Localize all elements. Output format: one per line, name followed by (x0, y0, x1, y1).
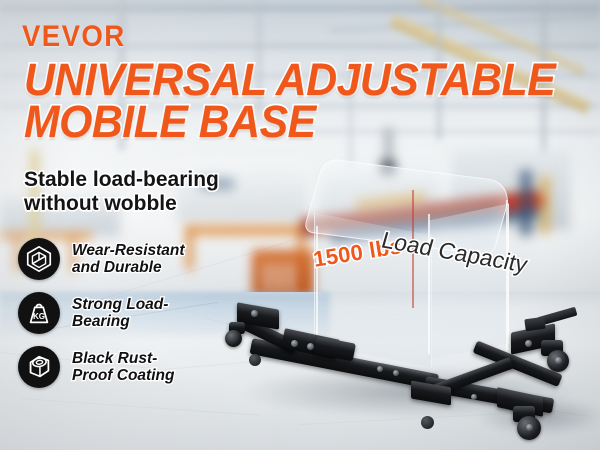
feature-label: Strong Load- Bearing (72, 296, 168, 330)
vevor-logo: VEVOR (22, 20, 126, 54)
feature-label: Wear-Resistant and Durable (72, 242, 185, 276)
hardware-bolt (251, 310, 258, 317)
feature-label-line-2: Proof Coating (72, 367, 174, 384)
product-banner: 1500 lbs Load Capacity (0, 0, 600, 450)
feature-label-line-1: Black Rust- (72, 350, 174, 367)
feature-label-line-1: Wear-Resistant (72, 242, 185, 259)
cube-icon (18, 238, 60, 280)
hardware-bolt (377, 366, 383, 372)
hardware-bolt (291, 340, 298, 347)
hardware-bolt (525, 340, 532, 347)
leveling-foot-left (249, 354, 261, 366)
feature-item-wear-resistant: Wear-Resistant and Durable (18, 238, 248, 280)
weight-kg-icon: KG (18, 292, 60, 334)
tagline-line-2: without wobble (24, 192, 324, 216)
headline-line-1: UNIVERSAL ADJUSTABLE (24, 60, 471, 100)
feature-item-rust-proof-coating: Black Rust- Proof Coating (18, 346, 248, 388)
tagline-line-1: Stable load-bearing (24, 168, 324, 192)
feature-item-strong-load-bearing: KG Strong Load- Bearing (18, 292, 248, 334)
headline: UNIVERSAL ADJUSTABLE MOBILE BASE (24, 60, 494, 141)
feature-label-line-2: Bearing (72, 313, 168, 330)
leveling-foot-front (421, 416, 434, 429)
headline-line-2: MOBILE BASE (24, 102, 471, 142)
capacity-callout: 1500 lbs Load Capacity (313, 240, 528, 266)
hardware-bolt (471, 394, 477, 400)
tagline: Stable load-bearing without wobble (24, 168, 324, 215)
feature-label-line-2: and Durable (72, 259, 185, 276)
hardware-bolt (393, 370, 399, 376)
svg-text:KG: KG (33, 312, 45, 321)
mobile-base-frame (225, 300, 600, 450)
feature-list: Wear-Resistant and Durable KG Strong Loa… (18, 238, 248, 400)
hex-nut-icon (18, 346, 60, 388)
hardware-bolt (307, 343, 314, 350)
feature-label-line-1: Strong Load- (72, 296, 168, 313)
feature-label: Black Rust- Proof Coating (72, 350, 174, 384)
